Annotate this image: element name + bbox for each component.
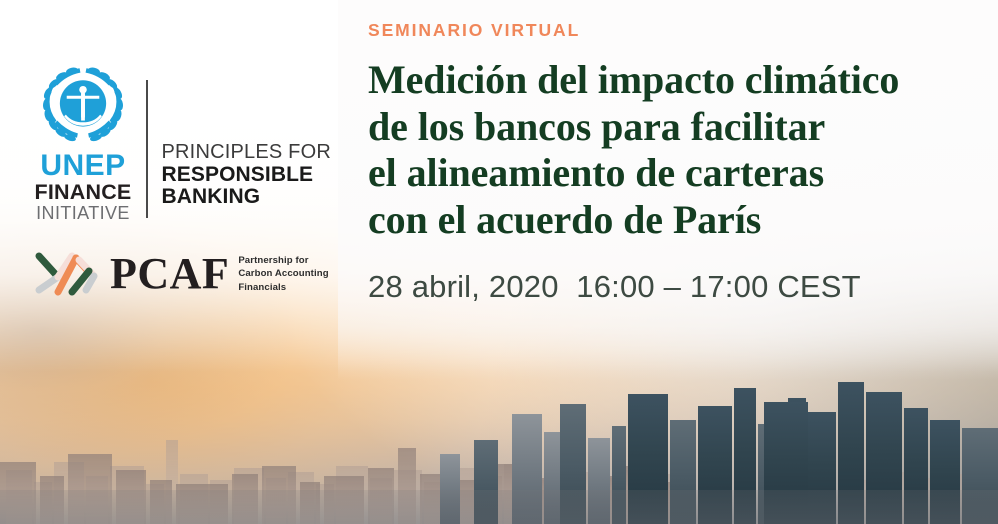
unep-word-line1: UNEP — [28, 150, 138, 181]
logo-divider — [146, 80, 148, 218]
unep-word-line2: FINANCE — [28, 181, 138, 203]
unep-word-line3: INITIATIVE — [28, 204, 138, 223]
pcaf-tagline-line2: Carbon Accounting — [238, 267, 328, 281]
pcaf-chevrons-mark — [32, 246, 112, 302]
webinar-banner: UNEP FINANCE INITIATIVE PRINCIPLES FOR R… — [0, 0, 998, 524]
principles-responsible-banking-wordmark: PRINCIPLES FOR RESPONSIBLE BANKING — [162, 64, 332, 209]
prb-line2: RESPONSIBLE — [162, 164, 332, 187]
headline-line-1: Medición del impacto climático — [368, 57, 982, 104]
unep-fi-prb-lockup: UNEP FINANCE INITIATIVE PRINCIPLES FOR R… — [28, 64, 333, 222]
event-type-eyebrow: SEMINARIO VIRTUAL — [368, 20, 982, 41]
headline-line-4: con el acuerdo de París — [368, 197, 982, 244]
pcaf-tagline-line3: Financials — [238, 281, 328, 295]
logo-lockup-group: UNEP FINANCE INITIATIVE PRINCIPLES FOR R… — [28, 64, 333, 302]
event-datetime: 28 abril, 2020 16:00 – 17:00 CEST — [368, 269, 982, 305]
headline-block: SEMINARIO VIRTUAL Medición del impacto c… — [368, 20, 982, 305]
unep-globe-laurel-emblem — [40, 64, 126, 148]
pcaf-tagline-line1: Partnership for — [238, 254, 328, 268]
pcaf-wordmark: PCAF — [110, 252, 229, 296]
headline-line-3: el alineamiento de carteras — [368, 150, 982, 197]
prb-line1: PRINCIPLES FOR — [162, 142, 332, 164]
pcaf-tagline: Partnership for Carbon Accounting Financ… — [238, 254, 328, 295]
page-title: Medición del impacto climático de los ba… — [368, 57, 982, 243]
headline-line-2: de los bancos para facilitar — [368, 104, 982, 151]
pcaf-logo: PCAF Partnership for Carbon Accounting F… — [32, 246, 333, 302]
background-ground-haze — [0, 490, 998, 524]
prb-line3: BANKING — [162, 186, 332, 209]
unep-fi-wordmark: UNEP FINANCE INITIATIVE — [28, 150, 138, 222]
unep-fi-logo: UNEP FINANCE INITIATIVE — [28, 64, 138, 222]
